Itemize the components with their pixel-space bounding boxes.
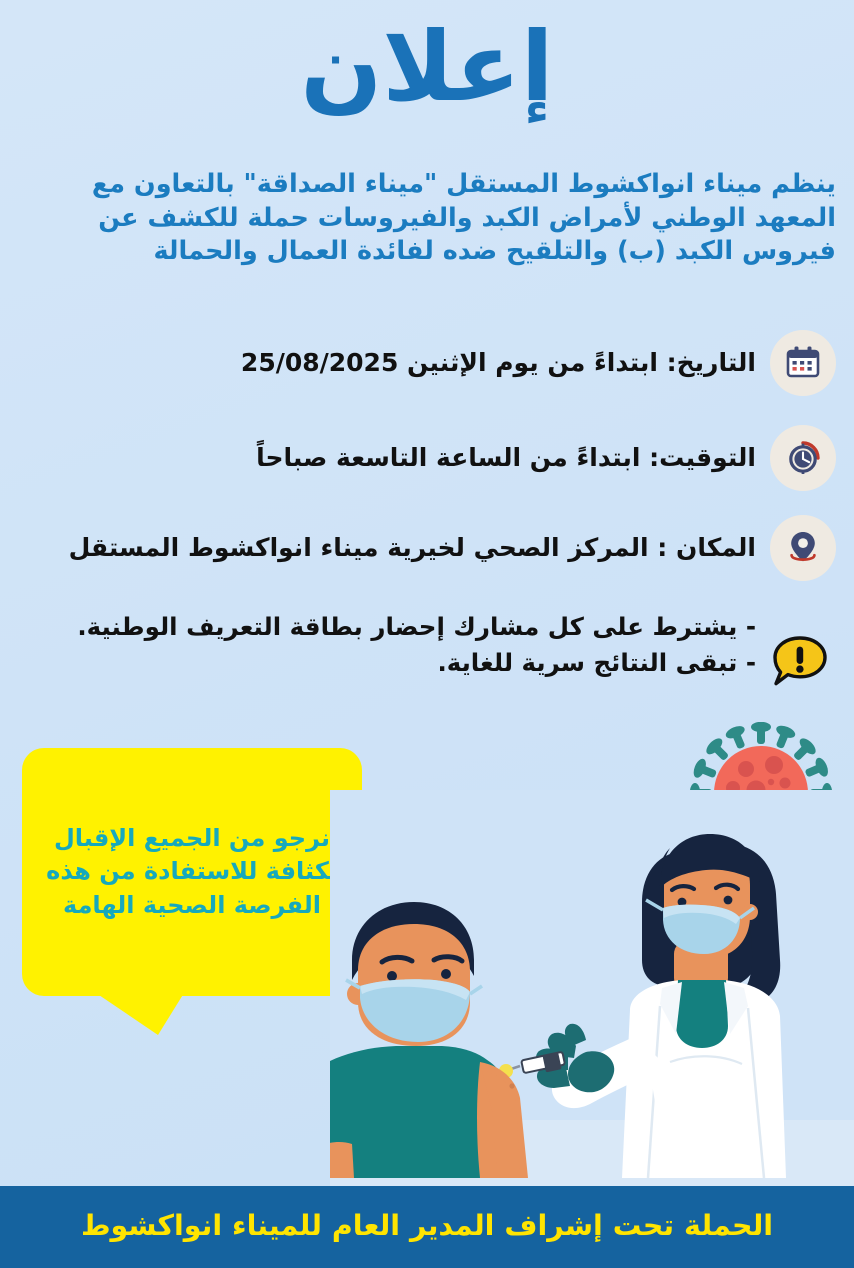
info-row-time-label: التوقيت: ابتداءً من الساعة التاسعة صباحا… xyxy=(18,442,756,475)
info-row-place-label: المكان : المركز الصحي لخيرية ميناء انواك… xyxy=(18,532,756,565)
footer-banner: الحملة تحت إشراف المدير العام للميناء ان… xyxy=(0,1186,854,1268)
calendar-icon xyxy=(770,330,836,396)
note-item: - تبقى النتائج سرية للغاية. xyxy=(24,646,756,680)
poster-root: إعلان ينظم ميناء انواكشوط المستقل "ميناء… xyxy=(0,0,854,1268)
info-row-date-label: التاريخ: ابتداءً من يوم الإثنين 25/08/20… xyxy=(18,347,756,380)
info-row-place: المكان : المركز الصحي لخيرية ميناء انواك… xyxy=(18,515,836,581)
bubble-tail xyxy=(96,993,184,1035)
page-title: إعلان xyxy=(0,12,854,122)
intro-paragraph: ينظم ميناء انواكشوط المستقل "ميناء الصدا… xyxy=(18,168,836,269)
notes-list: - يشترط على كل مشارك إحضار بطاقة التعريف… xyxy=(18,610,756,682)
footer-text: الحملة تحت إشراف المدير العام للميناء ان… xyxy=(81,1209,773,1246)
call-to-action-bubble: نرجو من الجميع الإقبال بكثافة للاستفادة … xyxy=(22,748,362,996)
info-row-date: التاريخ: ابتداءً من يوم الإثنين 25/08/20… xyxy=(18,330,836,396)
warning-bubble-icon xyxy=(762,628,836,702)
note-item: - يشترط على كل مشارك إحضار بطاقة التعريف… xyxy=(24,610,756,644)
info-row-time: التوقيت: ابتداءً من الساعة التاسعة صباحا… xyxy=(18,425,836,491)
vaccination-illustration xyxy=(330,790,854,1192)
clock-icon xyxy=(770,425,836,491)
call-to-action-text: نرجو من الجميع الإقبال بكثافة للاستفادة … xyxy=(22,748,362,996)
location-pin-icon xyxy=(770,515,836,581)
notes-section: - يشترط على كل مشارك إحضار بطاقة التعريف… xyxy=(18,610,836,702)
